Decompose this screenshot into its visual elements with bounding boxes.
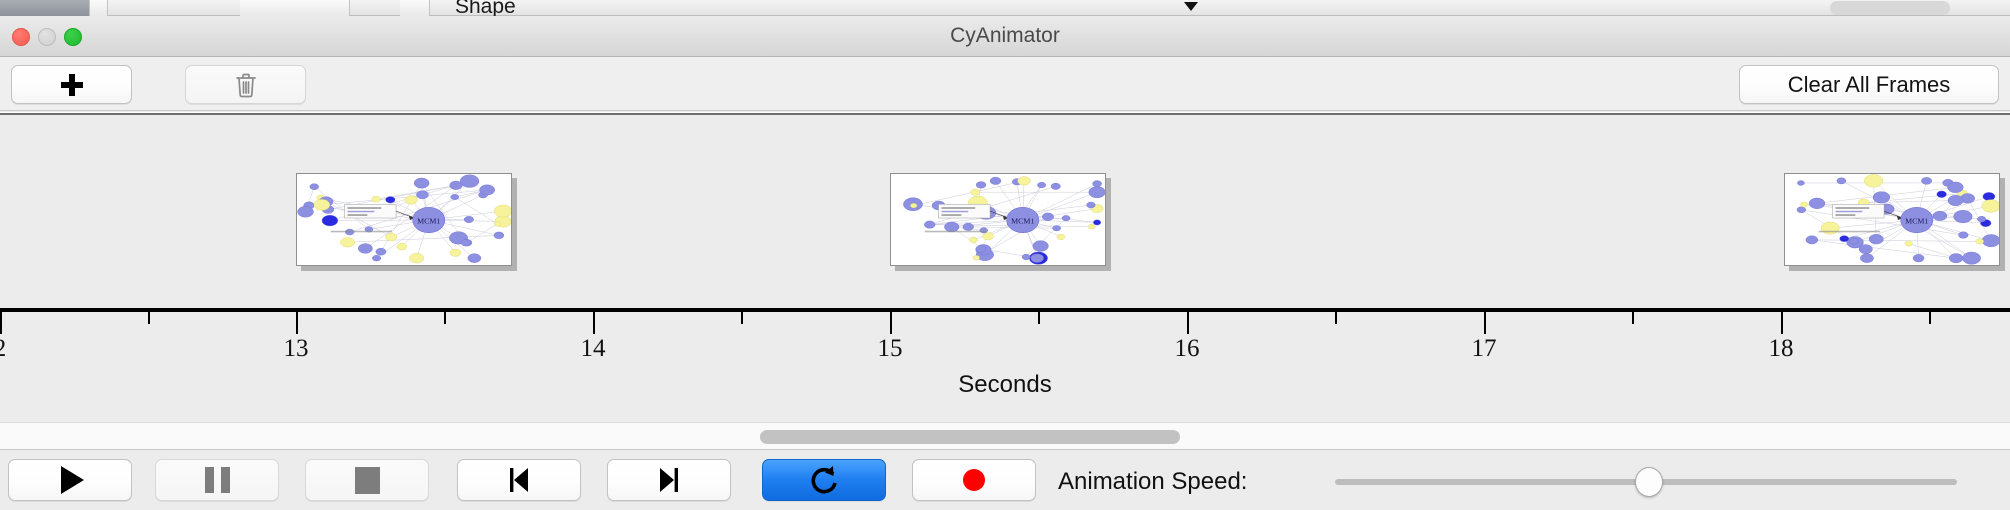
background-segment	[90, 0, 108, 16]
timeline-tick-major	[0, 312, 2, 334]
background-caret-icon	[1184, 2, 1198, 11]
timeline-tick-minor	[741, 312, 743, 324]
record-button[interactable]	[912, 459, 1036, 501]
frame-toolbar: Clear All Frames	[0, 57, 2010, 111]
play-icon	[61, 466, 84, 494]
timeline-scrollbar[interactable]	[0, 422, 2010, 450]
animation-speed-slider-thumb[interactable]	[1635, 467, 1663, 497]
timeline-tick-minor	[148, 312, 150, 324]
timeline-scrollbar-thumb[interactable]	[760, 430, 1180, 444]
timeline-tick-major	[1187, 312, 1189, 334]
timeline-tick-minor	[444, 312, 446, 324]
timeline-panel[interactable]: MCM1 MCM1 MCM1 2131415161718 Seconds	[0, 112, 2010, 422]
record-icon	[961, 467, 987, 493]
animation-speed-label: Animation Speed:	[1058, 468, 1247, 496]
stop-icon	[355, 467, 380, 494]
timeline-tick-label: 14	[581, 335, 606, 363]
animation-speed-slider[interactable]	[1335, 479, 1957, 485]
window-title: CyAnimator	[0, 24, 2010, 48]
background-segment	[240, 0, 350, 16]
timeline-tick-minor	[1335, 312, 1337, 324]
timeline-tick-label: 15	[878, 335, 903, 363]
timeline-frame[interactable]: MCM1	[1784, 173, 2000, 266]
transport-bar: Animation Speed:	[0, 450, 2010, 510]
background-segment	[0, 0, 90, 16]
background-scrollbar	[1830, 1, 1950, 15]
timeline-tick-label: 17	[1472, 335, 1497, 363]
timeline-tick-major	[1484, 312, 1486, 334]
timeline-tick-label: 2	[0, 335, 6, 363]
timeline-tick-major	[890, 312, 892, 334]
svg-text:MCM1: MCM1	[1011, 216, 1034, 225]
background-shape-label: Shape	[455, 0, 516, 16]
timeline-tick-major	[296, 312, 298, 334]
loop-button[interactable]	[762, 459, 886, 501]
timeline-tick-label: 13	[284, 335, 309, 363]
skip-back-icon	[504, 466, 534, 494]
background-window: Shape	[0, 0, 2010, 16]
timeline-tick-minor	[1929, 312, 1931, 324]
svg-text:MCM1: MCM1	[1905, 216, 1928, 225]
delete-frame-button[interactable]	[185, 65, 306, 104]
add-frame-button[interactable]	[11, 65, 132, 104]
play-button[interactable]	[8, 459, 132, 501]
skip-forward-icon	[654, 466, 684, 494]
timeline-tick-major	[1781, 312, 1783, 334]
skip-back-button[interactable]	[457, 459, 581, 501]
timeline-tick-minor	[1038, 312, 1040, 324]
pause-button[interactable]	[155, 459, 279, 501]
axis-title: Seconds	[0, 371, 2010, 399]
skip-forward-button[interactable]	[607, 459, 731, 501]
svg-text:MCM1: MCM1	[417, 216, 440, 225]
stop-button[interactable]	[305, 459, 429, 501]
plus-icon	[60, 73, 84, 97]
timeline-axis	[0, 308, 2010, 312]
clear-all-frames-button[interactable]: Clear All Frames	[1739, 65, 1999, 104]
loop-icon	[808, 464, 840, 496]
timeline-tick-label: 18	[1769, 335, 1794, 363]
timeline-tick-label: 16	[1175, 335, 1200, 363]
clear-all-frames-label: Clear All Frames	[1788, 72, 1951, 98]
timeline-tick-major	[593, 312, 595, 334]
timeline-frame[interactable]: MCM1	[296, 173, 512, 266]
background-segment	[400, 0, 430, 16]
pause-icon	[205, 467, 230, 493]
timeline-tick-minor	[1632, 312, 1634, 324]
title-bar: CyAnimator	[0, 16, 2010, 57]
trash-icon	[235, 72, 257, 98]
timeline-frame[interactable]: MCM1	[890, 173, 1106, 266]
cyanimator-window: Shape CyAnimator Clear All Frames MCM1 M…	[0, 0, 2010, 510]
